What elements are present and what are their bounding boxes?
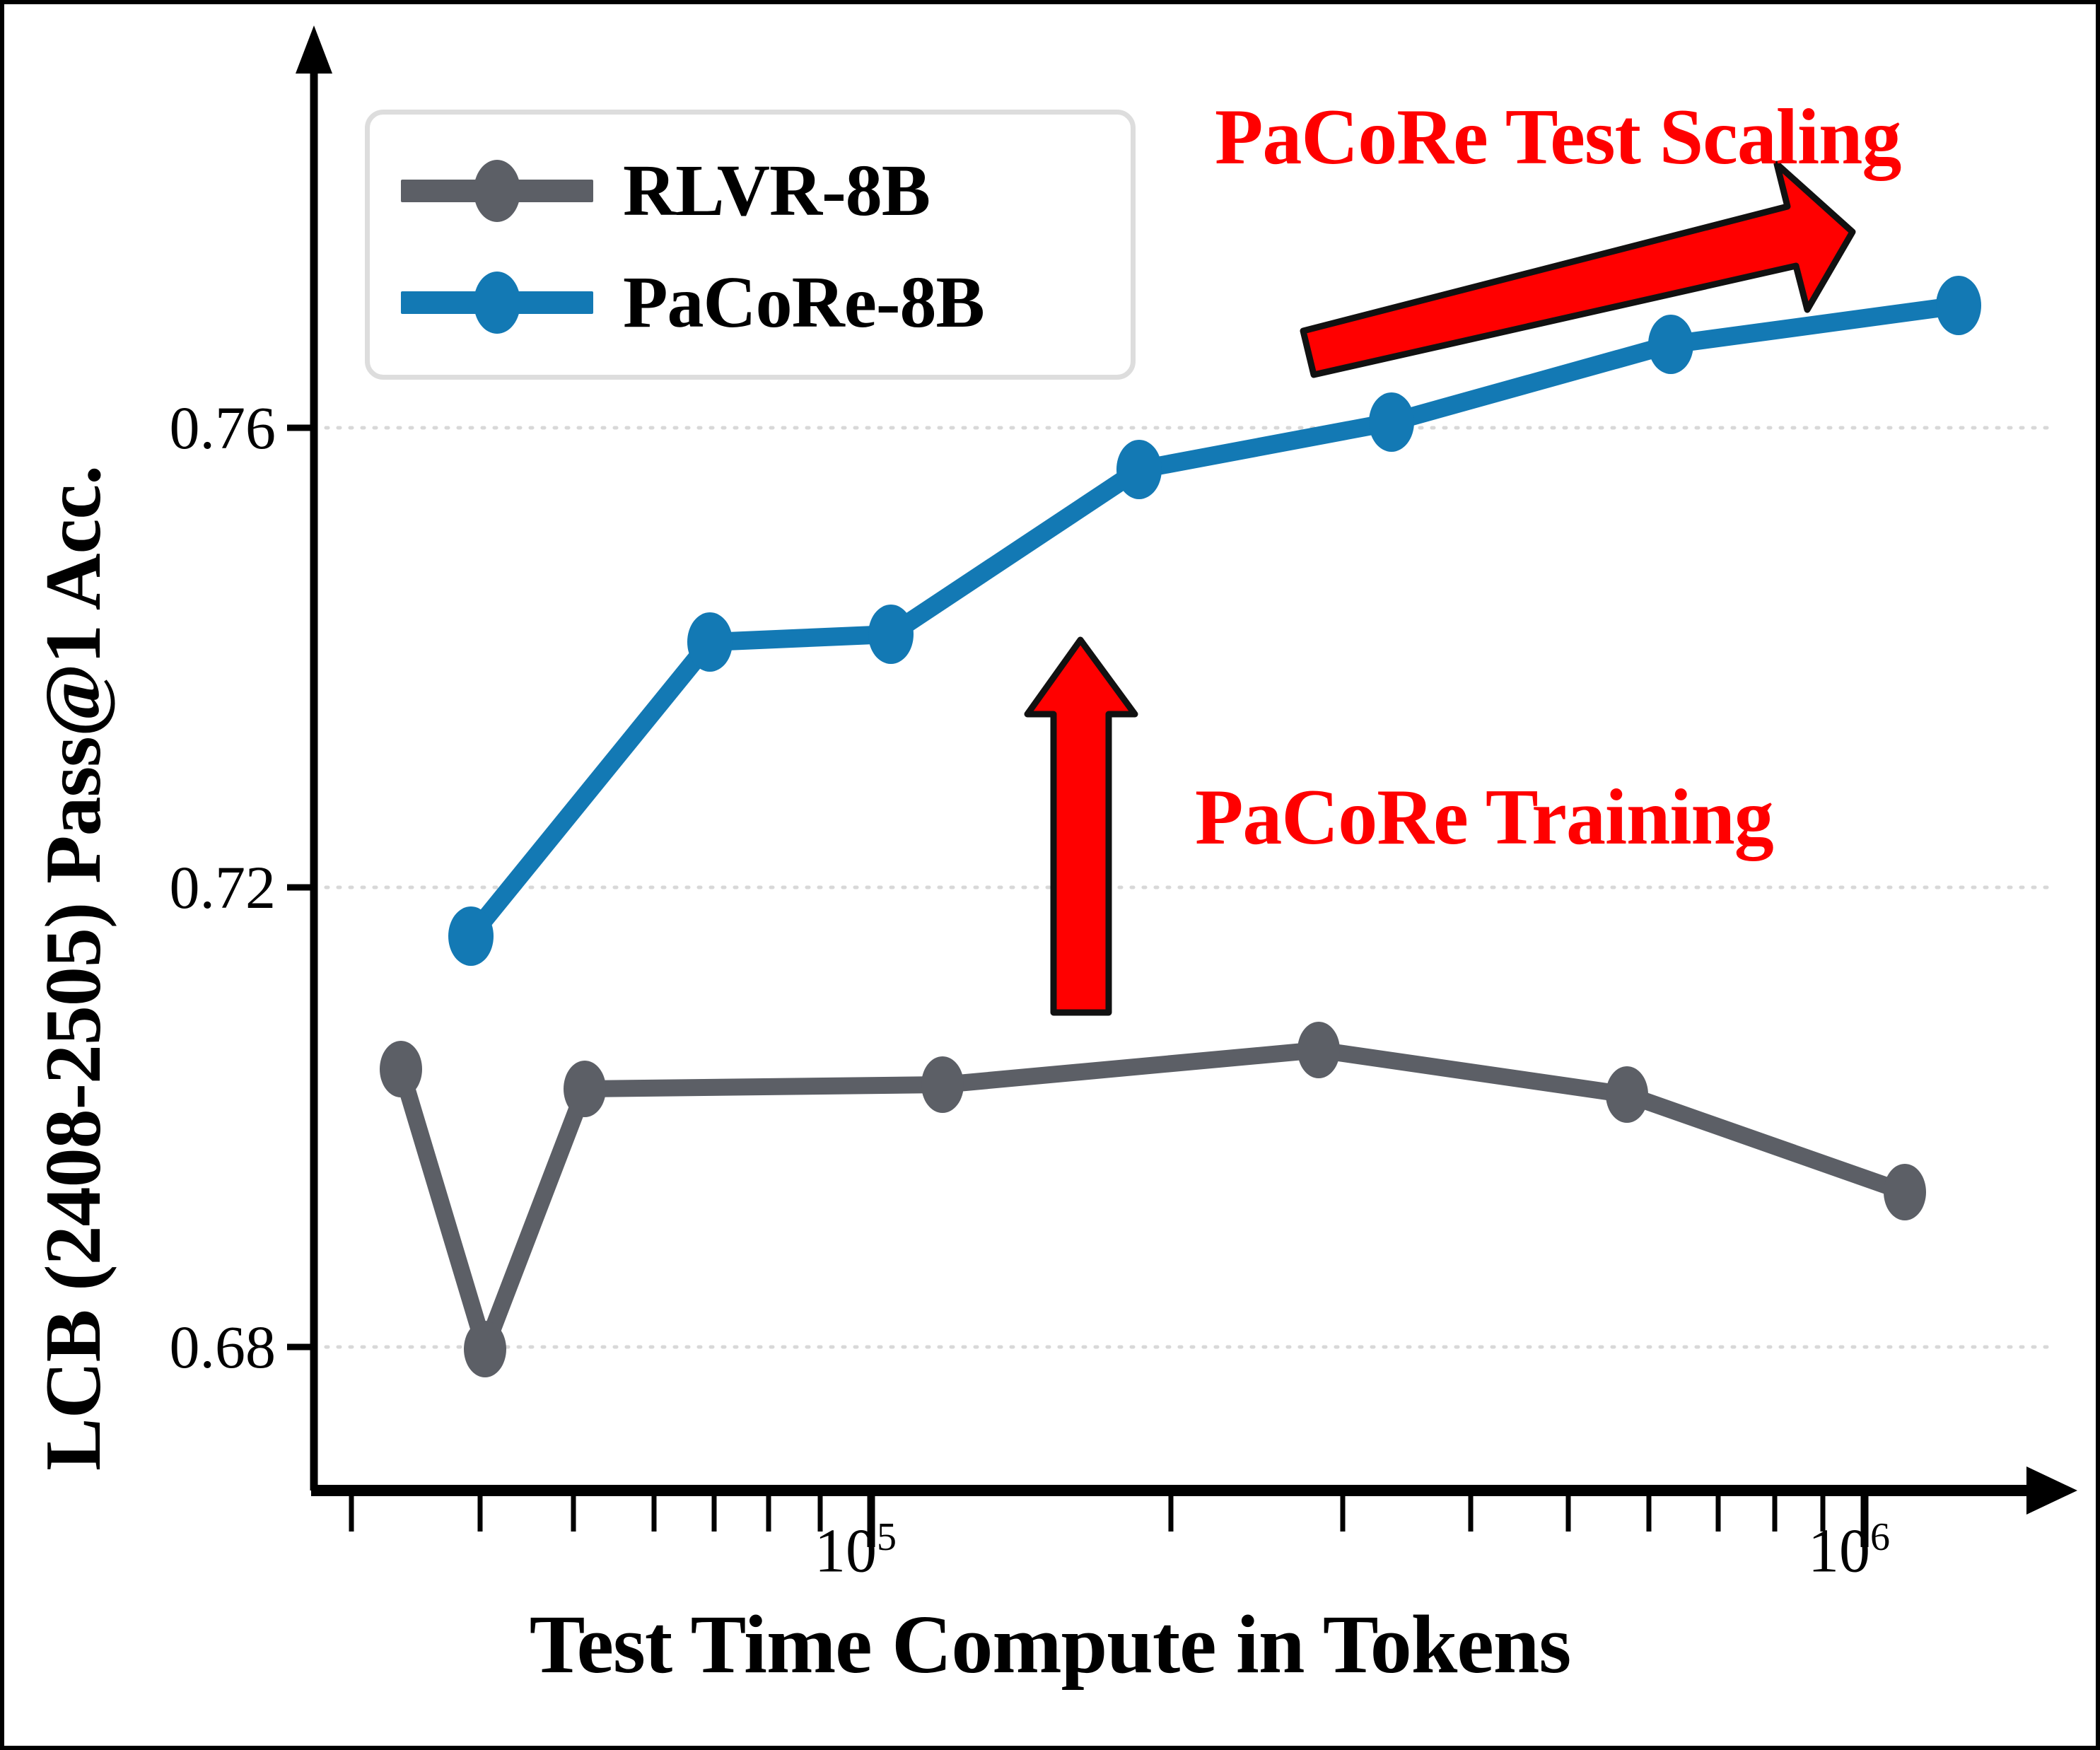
data-point [1606,1066,1648,1123]
data-point [1297,1022,1340,1078]
y-tick-label-076: 0.76 [148,392,276,463]
data-point [1116,440,1162,499]
test-scaling-arrow-icon [1303,164,1853,375]
training-arrow-icon [1027,640,1135,1013]
y-axis-ticks [287,428,314,1347]
y-axis-title: LCB (2408-2505) Pass@1 Acc. [28,466,119,1471]
data-point [564,1061,606,1117]
y-tick-label-072: 0.72 [148,852,276,923]
series-rlvr-8b [380,1022,1926,1377]
data-point [448,906,494,966]
data-point [1936,276,1981,335]
x-tick-label-1e6: 106 [1808,1515,1890,1587]
data-point [380,1041,422,1097]
legend-label-pacore-8b: PaCoRe-8B [623,266,984,339]
legend-swatch-rlvr-8b [401,170,593,212]
legend-item-rlvr-8b[interactable]: RLVR-8B [401,148,930,233]
x-tick-label-1e5: 105 [815,1515,897,1587]
x-axis-minor-ticks [351,1496,1823,1532]
legend-swatch-pacore-8b [401,281,593,324]
y-axis-spine [296,25,332,1491]
legend-item-pacore-8b[interactable]: PaCoRe-8B [401,260,984,345]
data-point [868,605,914,664]
data-point [464,1321,506,1377]
legend-label-rlvr-8b: RLVR-8B [623,154,930,228]
annotation-training: PaCoRe Training [1195,772,1773,863]
x-axis-title: Test Time Compute in Tokens [0,1597,2100,1693]
annotation-test-scaling: PaCoRe Test Scaling [1215,92,1901,183]
data-point [921,1056,964,1113]
legend: RLVR-8B PaCoRe-8B [365,110,1136,380]
data-point [1648,315,1693,374]
data-point [1369,392,1414,452]
figure-root: LCB (2408-2505) Pass@1 Acc. Test Time Co… [0,0,2100,1750]
data-point [1884,1164,1926,1220]
x-axis-major-ticks [871,1496,1865,1547]
gridlines [314,428,2054,1347]
x-axis-spine [311,1466,2077,1515]
y-tick-label-068: 0.68 [148,1312,276,1382]
data-point [687,612,733,672]
